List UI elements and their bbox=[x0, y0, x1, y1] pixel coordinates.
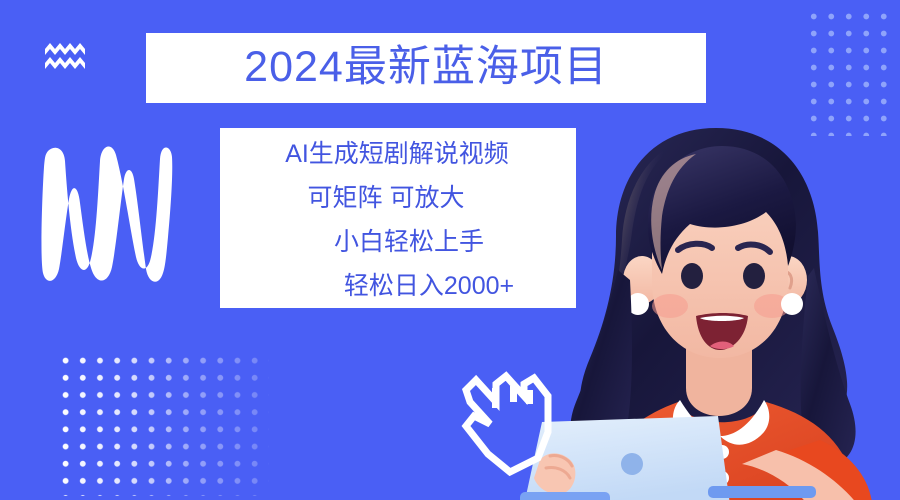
poster-canvas: 2024最新蓝海项目 AI生成短剧解说视频 可矩阵 可放大 小白轻松上手 轻松日… bbox=[0, 0, 900, 500]
subtitle-line-4: 轻松日入2000+ bbox=[220, 264, 576, 308]
title-banner: 2024最新蓝海项目 bbox=[146, 33, 706, 103]
subtitle-line-2: 可矩阵 可放大 bbox=[220, 176, 576, 220]
wave-icon bbox=[44, 40, 88, 76]
page-title: 2024最新蓝海项目 bbox=[244, 46, 608, 89]
hand-cursor-icon bbox=[452, 362, 562, 484]
brush-w-icon bbox=[34, 133, 174, 288]
subtitle-line-3: 小白轻松上手 bbox=[220, 220, 576, 264]
subtitle-line-1: AI生成短剧解说视频 bbox=[220, 132, 576, 176]
dot-grid-bottom-left-icon bbox=[57, 352, 269, 496]
subtitle-card: AI生成短剧解说视频 可矩阵 可放大 小白轻松上手 轻松日入2000+ bbox=[220, 128, 576, 308]
woman-with-laptop-illustration bbox=[520, 120, 900, 500]
dot-grid-top-right-icon bbox=[805, 8, 893, 136]
